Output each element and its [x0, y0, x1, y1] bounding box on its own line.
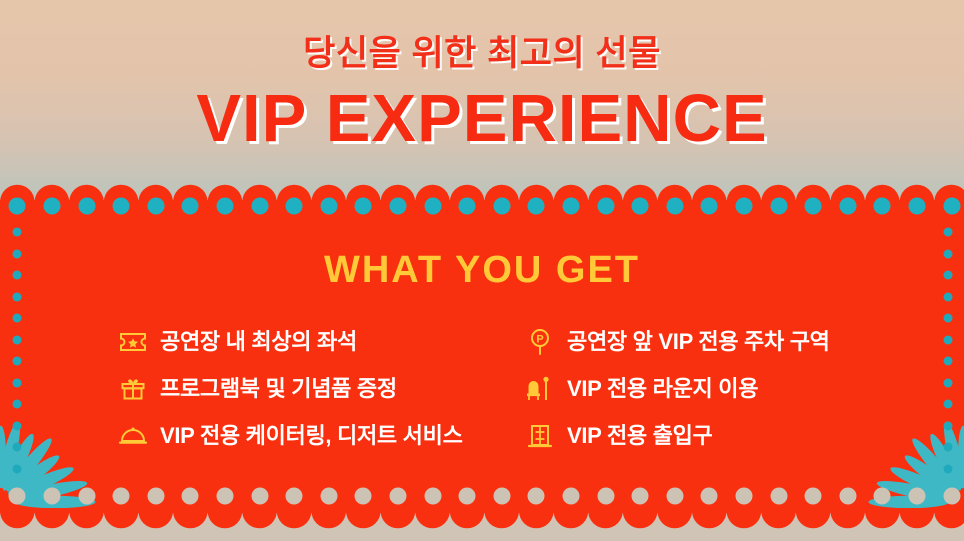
gift-icon [118, 374, 148, 404]
benefit-label: VIP 전용 출입구 [567, 425, 713, 447]
svg-text:P: P [536, 333, 543, 345]
poster-header: 당신을 위한 최고의 선물 VIP EXPERIENCE [0, 0, 964, 200]
benefits-columns: 공연장 내 최상의 좌석 프로그램북 및 기념품 증정 [118, 318, 908, 459]
benefits-column-right: P 공연장 앞 VIP 전용 주차 구역 [525, 318, 920, 459]
benefit-label: VIP 전용 라운지 이용 [567, 378, 758, 400]
benefit-item: VIP 전용 케이터링, 디저트 서비스 [118, 412, 513, 459]
benefit-item: P 공연장 앞 VIP 전용 주차 구역 [525, 318, 920, 365]
benefit-label: 공연장 앞 VIP 전용 주차 구역 [567, 331, 830, 353]
benefit-label: VIP 전용 케이터링, 디저트 서비스 [160, 425, 463, 447]
lounge-chair-icon [525, 374, 555, 404]
benefit-label: 프로그램북 및 기념품 증정 [160, 378, 397, 400]
benefits-column-left: 공연장 내 최상의 좌석 프로그램북 및 기념품 증정 [118, 318, 513, 459]
ticket-star-icon [118, 327, 148, 357]
benefit-label: 공연장 내 최상의 좌석 [160, 331, 357, 353]
page-title: VIP EXPERIENCE [0, 85, 964, 152]
parking-pin-icon: P [525, 327, 555, 357]
benefit-item: VIP 전용 출입구 [525, 412, 920, 459]
vip-experience-poster: 당신을 위한 최고의 선물 VIP EXPERIENCE [0, 0, 964, 541]
benefit-item: VIP 전용 라운지 이용 [525, 365, 920, 412]
cloche-icon [118, 421, 148, 451]
benefit-item: 공연장 내 최상의 좌석 [118, 318, 513, 365]
benefit-item: 프로그램북 및 기념품 증정 [118, 365, 513, 412]
entrance-gate-icon [525, 421, 555, 451]
header-subtitle: 당신을 위한 최고의 선물 [0, 36, 964, 71]
section-heading: WHAT YOU GET [0, 250, 964, 292]
